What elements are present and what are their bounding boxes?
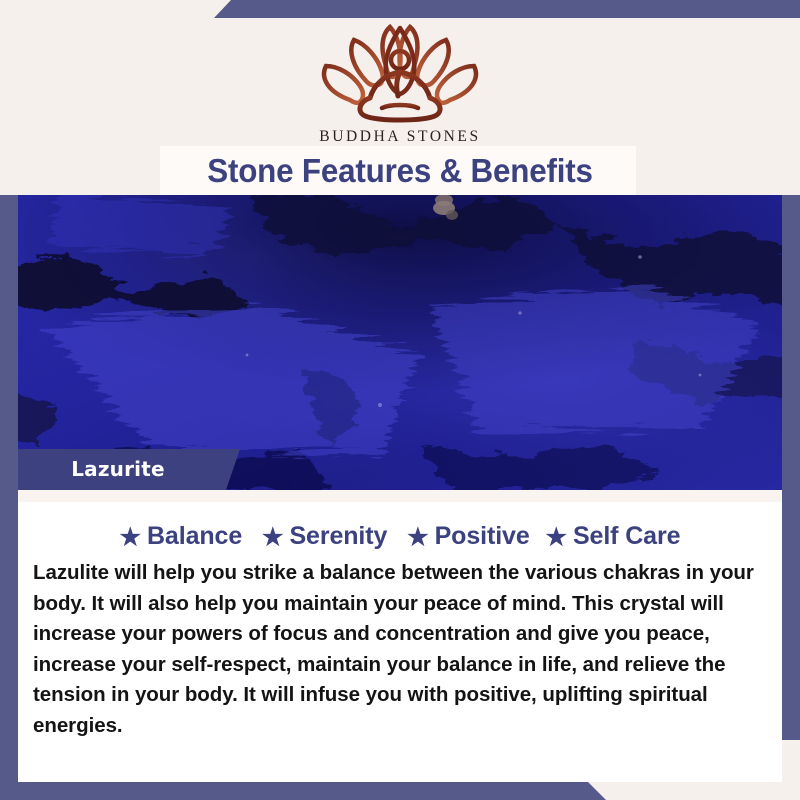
content-panel: ★Balance ★Serenity ★Positive ★Self Care …	[18, 490, 782, 782]
star-icon: ★	[546, 526, 567, 550]
star-icon: ★	[407, 526, 428, 550]
page-title: Stone Features & Benefits	[20, 146, 780, 195]
keyword-label: Positive	[429, 522, 530, 551]
frame-bottom-border	[0, 782, 800, 800]
keyword-label: Serenity	[283, 522, 387, 551]
frame-top-border	[0, 0, 800, 18]
poster-canvas: BUDDHA STONES Stone Features & Benefits …	[0, 0, 800, 800]
star-icon: ★	[120, 526, 141, 550]
stone-photo	[0, 195, 800, 490]
stone-name-banner: Lazurite	[18, 449, 240, 490]
keyword-list: ★Balance ★Serenity ★Positive ★Self Care	[18, 522, 782, 551]
stone-photo-graphic	[0, 195, 800, 490]
keyword-item-serenity: ★Serenity	[249, 522, 387, 551]
brand-logo: BUDDHA STONES	[0, 22, 800, 146]
star-icon: ★	[262, 526, 283, 550]
keyword-item-self-care: ★Self Care	[537, 522, 681, 551]
keyword-label: Balance	[141, 522, 242, 551]
stone-description: Lazulite will help you strike a balance …	[33, 558, 761, 741]
keyword-item-positive: ★Positive	[394, 522, 530, 551]
frame-right-footer-mask	[782, 740, 800, 800]
keyword-item-balance: ★Balance	[120, 522, 243, 551]
content-top-strip	[18, 490, 782, 502]
stone-name-label: Lazurite	[18, 449, 218, 490]
frame-left-header-mask	[0, 0, 18, 195]
brand-name: BUDDHA STONES	[0, 128, 800, 146]
lotus-meditation-icon	[312, 22, 488, 126]
frame-right-header-mask	[782, 18, 800, 195]
keyword-label: Self Care	[567, 522, 681, 551]
